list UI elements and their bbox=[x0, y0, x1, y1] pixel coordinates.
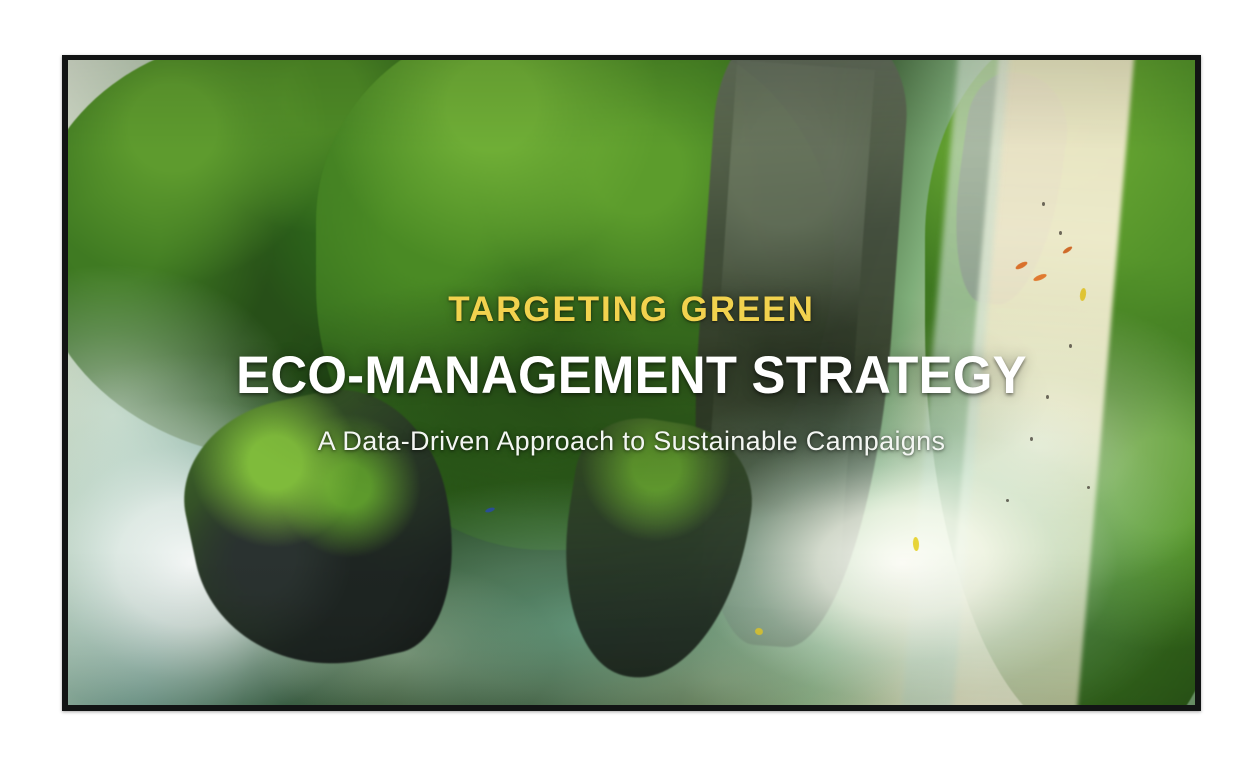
eyebrow-heading: TARGETING GREEN bbox=[68, 292, 1195, 327]
background-photo: TARGETING GREEN ECO-MANAGEMENT STRATEGY … bbox=[68, 60, 1195, 705]
page-title: ECO-MANAGEMENT STRATEGY bbox=[91, 349, 1173, 402]
person-speck bbox=[1006, 499, 1009, 502]
page-subtitle: A Data-Driven Approach to Sustainable Ca… bbox=[68, 428, 1195, 455]
slide-frame: TARGETING GREEN ECO-MANAGEMENT STRATEGY … bbox=[62, 55, 1201, 711]
kayak-yellow-2 bbox=[913, 537, 920, 551]
person-speck bbox=[1087, 486, 1090, 489]
title-block: TARGETING GREEN ECO-MANAGEMENT STRATEGY … bbox=[68, 292, 1195, 455]
slide-canvas: TARGETING GREEN ECO-MANAGEMENT STRATEGY … bbox=[0, 0, 1258, 767]
person-speck bbox=[1042, 202, 1045, 206]
person-speck bbox=[1059, 231, 1062, 235]
